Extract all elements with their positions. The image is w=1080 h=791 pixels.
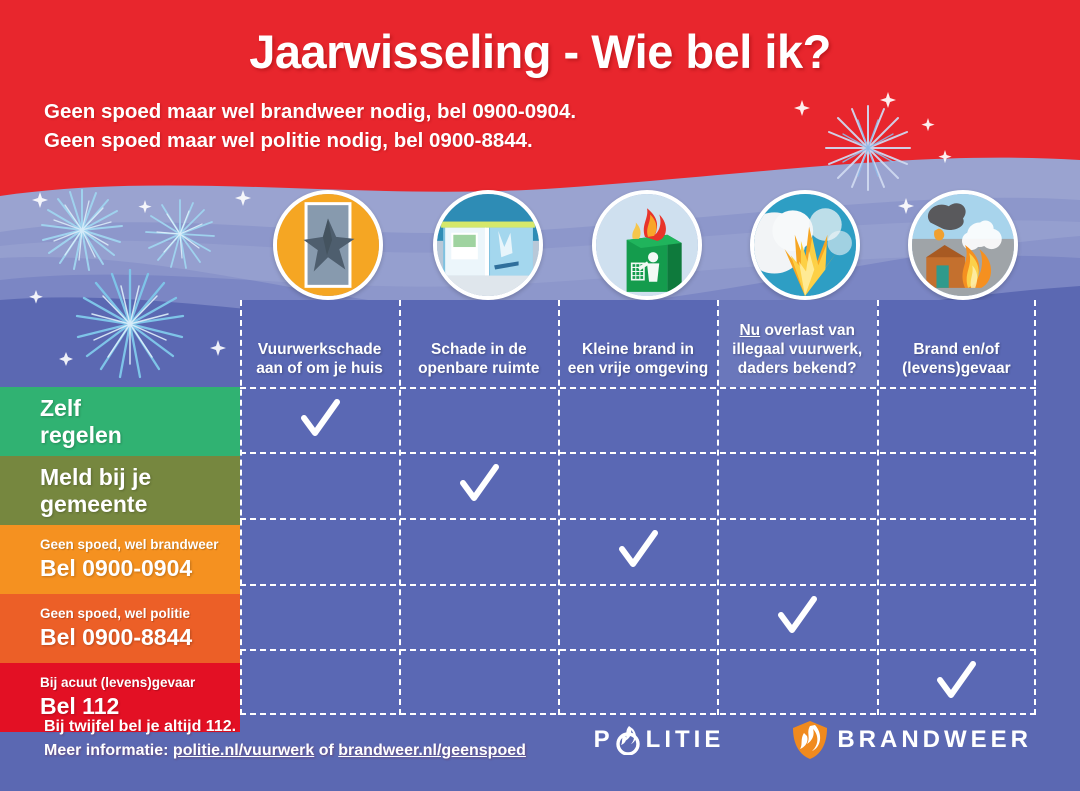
subline-brandweer: Geen spoed maar wel brandweer nodig, bel… <box>44 97 1080 126</box>
cell-r5c2[interactable] <box>399 649 558 715</box>
matrix-body <box>240 387 1036 715</box>
sidebar-row-brandweer[interactable]: Geen spoed, wel brandweer Bel 0900-0904 <box>0 525 240 594</box>
cell-r2c5[interactable] <box>877 453 1036 519</box>
logo-bar: P LITIE BRANDWEER <box>594 719 1032 761</box>
cell-r4c4[interactable] <box>718 584 877 650</box>
sidebar-label-zelf: Zelf <box>40 395 81 421</box>
cell-r1c1[interactable] <box>240 387 399 453</box>
cell-r2c4[interactable] <box>718 453 877 519</box>
cell-r3c2[interactable] <box>399 518 558 584</box>
brandweer-logo-word: BRANDWEER <box>837 726 1032 754</box>
footer-prefix: Meer informatie: <box>44 742 173 759</box>
sidebar-row-zelf-regelen[interactable]: Zelf regelen <box>0 387 240 456</box>
checkmark-icon <box>298 398 342 442</box>
house-fire-icon <box>908 190 1018 300</box>
cell-r3c1[interactable] <box>240 518 399 584</box>
cell-r2c1[interactable] <box>240 453 399 519</box>
sidebar-sub-brandweer: Geen spoed, wel brandweer <box>40 538 240 553</box>
brandweer-shield-icon <box>790 719 830 761</box>
table-row <box>240 584 1036 650</box>
brandweer-logo: BRANDWEER <box>790 719 1032 761</box>
footer-mid: of <box>314 742 338 759</box>
table-row <box>240 649 1036 715</box>
table-row <box>240 518 1036 584</box>
column-header-brand-levensgevaar: Brand en/of(levens)gevaar <box>877 300 1036 387</box>
cell-r1c2[interactable] <box>399 387 558 453</box>
header-sublines: Geen spoed maar wel brandweer nodig, bel… <box>0 97 1080 155</box>
link-politie-vuurwerk[interactable]: politie.nl/vuurwerk <box>173 742 314 759</box>
cell-r5c4[interactable] <box>718 649 877 715</box>
broken-window-icon <box>273 190 383 300</box>
matrix-header-row: Vuurwerkschadeaan of om je huis Schade i… <box>240 300 1036 387</box>
sidebar-label-gemeente: gemeente <box>40 491 147 517</box>
table-row <box>240 453 1036 519</box>
cell-r5c5[interactable] <box>877 649 1036 715</box>
column-header-vuurwerkschade: Vuurwerkschadeaan of om je huis <box>240 300 399 387</box>
header: Jaarwisseling - Wie bel ik? Geen spoed m… <box>0 0 1080 155</box>
column-header-schade-openbare-ruimte: Schade in deopenbare ruimte <box>399 300 558 387</box>
poster: Jaarwisseling - Wie bel ik? Geen spoed m… <box>0 0 1080 791</box>
link-brandweer-geenspoed[interactable]: brandweer.nl/geenspoed <box>338 742 526 759</box>
subline-politie: Geen spoed maar wel politie nodig, bel 0… <box>44 126 1080 155</box>
sidebar-phone-politie: Bel 0900-8844 <box>40 624 240 650</box>
footer-line-2: Meer informatie: politie.nl/vuurwerk of … <box>44 739 526 763</box>
burning-bin-icon <box>592 190 702 300</box>
sidebar-label-regelen: regelen <box>40 422 122 448</box>
cell-r3c5[interactable] <box>877 518 1036 584</box>
checkmark-icon <box>934 660 978 704</box>
cell-r3c4[interactable] <box>718 518 877 584</box>
cell-r4c5[interactable] <box>877 584 1036 650</box>
cell-r3c3[interactable] <box>558 518 717 584</box>
explosion-icon <box>750 190 860 300</box>
sidebar-phone-brandweer: Bel 0900-0904 <box>40 555 240 581</box>
sidebar-label-meld: Meld bij je <box>40 464 151 490</box>
column-header-overlast-illegaal-vuurwerk: Nu overlast vanillegaal vuurwerk,daders … <box>718 300 877 387</box>
cell-r5c3[interactable] <box>558 649 717 715</box>
footer: Bij twijfel bel je altijd 112. Meer info… <box>44 715 526 763</box>
cell-r1c4[interactable] <box>718 387 877 453</box>
politie-logo-pre: P <box>594 726 614 753</box>
table-row <box>240 387 1036 453</box>
sidebar-sub-112: Bij acuut (levens)gevaar <box>40 676 240 691</box>
action-sidebar: Zelf regelen Meld bij je gemeente Geen s… <box>0 387 240 732</box>
sidebar-sub-politie: Geen spoed, wel politie <box>40 607 240 622</box>
checkmark-icon <box>457 463 501 507</box>
cell-r2c2[interactable] <box>399 453 558 519</box>
cell-r4c1[interactable] <box>240 584 399 650</box>
cell-r1c5[interactable] <box>877 387 1036 453</box>
column-icons <box>0 190 1080 305</box>
checkmark-icon <box>616 529 660 573</box>
column-header-kleine-brand: Kleine brand ineen vrije omgeving <box>558 300 717 387</box>
politie-logo: P LITIE <box>594 725 725 755</box>
cell-r5c1[interactable] <box>240 649 399 715</box>
checkmark-icon <box>775 595 819 639</box>
decision-matrix: Vuurwerkschadeaan of om je huis Schade i… <box>240 300 1036 715</box>
politie-flame-icon <box>615 725 641 755</box>
sidebar-row-meld-gemeente[interactable]: Meld bij je gemeente <box>0 456 240 525</box>
footer-line-1: Bij twijfel bel je altijd 112. <box>44 715 526 739</box>
politie-logo-post: LITIE <box>646 726 725 753</box>
sidebar-row-politie[interactable]: Geen spoed, wel politie Bel 0900-8844 <box>0 594 240 663</box>
cell-r2c3[interactable] <box>558 453 717 519</box>
page-title: Jaarwisseling - Wie bel ik? <box>0 24 1080 79</box>
cell-r4c2[interactable] <box>399 584 558 650</box>
cell-r4c3[interactable] <box>558 584 717 650</box>
damaged-building-icon <box>433 190 543 300</box>
cell-r1c3[interactable] <box>558 387 717 453</box>
